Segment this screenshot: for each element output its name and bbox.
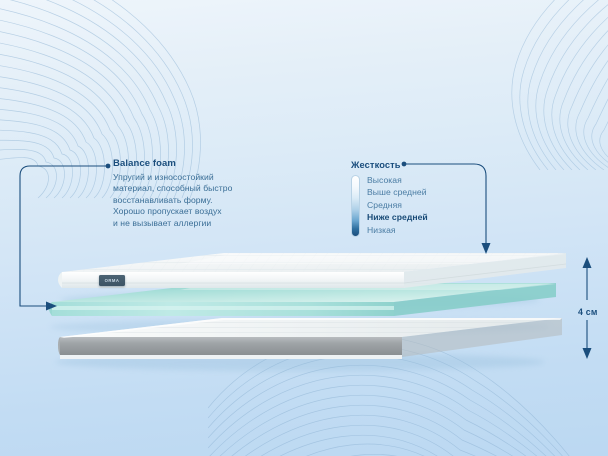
callout-body-line: материал, способный быстро — [113, 183, 273, 194]
callout-body-line: и не вызывает аллергии — [113, 218, 273, 229]
callout-body-line: Упругий и износостойкий — [113, 172, 273, 183]
callout-body-line: восстанавливать форму. — [113, 195, 273, 206]
firmness-option[interactable]: Выше средней — [367, 186, 428, 198]
mattress-layers-diagram — [0, 0, 608, 456]
firmness-option[interactable]: Высокая — [367, 174, 428, 186]
callout-body-line: Хорошо пропускает воздух — [113, 206, 273, 217]
layer-top-cover — [58, 253, 566, 288]
callout-body: Упругий и износостойкий материал, способ… — [113, 172, 273, 229]
illustration-stage: ORMA Balance foam Упругий и износостойки… — [0, 0, 608, 456]
callout-title: Balance foam — [113, 158, 273, 170]
firmness-option[interactable]: Низкая — [367, 224, 428, 236]
left-callout-connector — [20, 164, 110, 311]
firmness-option[interactable]: Средняя — [367, 199, 428, 211]
brand-logo-tag: ORMA — [99, 275, 125, 286]
dimension-label: 4 см — [578, 307, 598, 317]
firmness-option-selected[interactable]: Ниже средней — [367, 211, 428, 223]
brand-logo-text: ORMA — [105, 278, 120, 283]
balance-foam-callout: Balance foam Упругий и износостойкий мат… — [113, 158, 273, 229]
firmness-scale: Жесткость Высокая Выше средней Средняя Н… — [351, 160, 471, 237]
firmness-gradient-bar — [351, 175, 360, 237]
firmness-option-list: Высокая Выше средней Средняя Ниже средне… — [367, 174, 428, 236]
firmness-title: Жесткость — [351, 160, 471, 170]
